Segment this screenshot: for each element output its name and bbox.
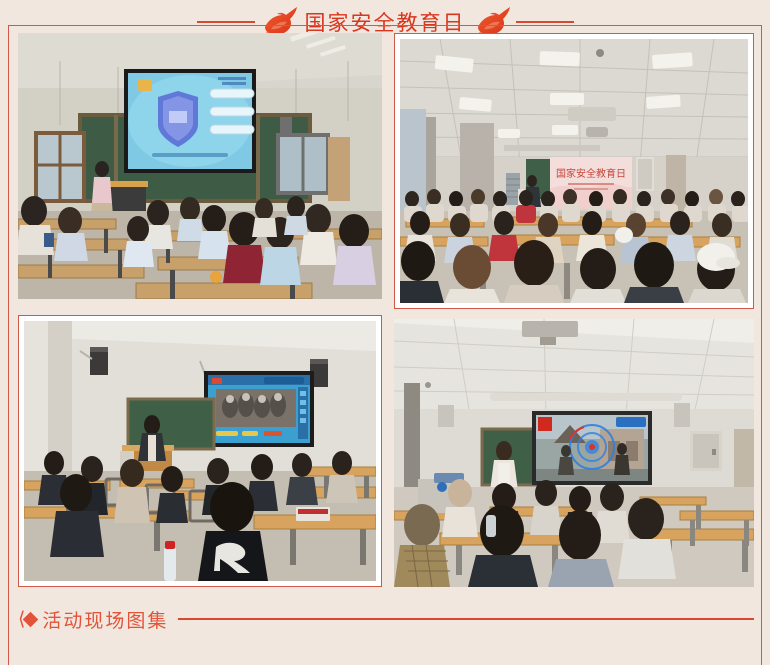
photo-image (24, 321, 376, 581)
gallery-caption: ⟨ 活动现场图集 (18, 604, 754, 634)
svg-text:国家安全教育日: 国家安全教育日 (556, 167, 626, 180)
photo-image: 国家安全教育日 (400, 39, 748, 303)
header-rule-left (197, 21, 255, 23)
gallery-photo-bottom-left[interactable] (18, 315, 382, 587)
footer-rule (178, 618, 754, 620)
gallery-caption-label: 活动现场图集 (42, 606, 168, 633)
photo-image (18, 33, 382, 299)
gallery-photo-top-left[interactable] (18, 33, 382, 299)
diamond-icon (23, 611, 39, 627)
gallery-photo-bottom-right[interactable] (394, 319, 754, 587)
photo-image (394, 319, 754, 587)
header-rule-right (516, 21, 574, 23)
photo-gallery: 国家安全教育日 (18, 33, 754, 595)
gallery-photo-top-right[interactable]: 国家安全教育日 (394, 33, 754, 309)
